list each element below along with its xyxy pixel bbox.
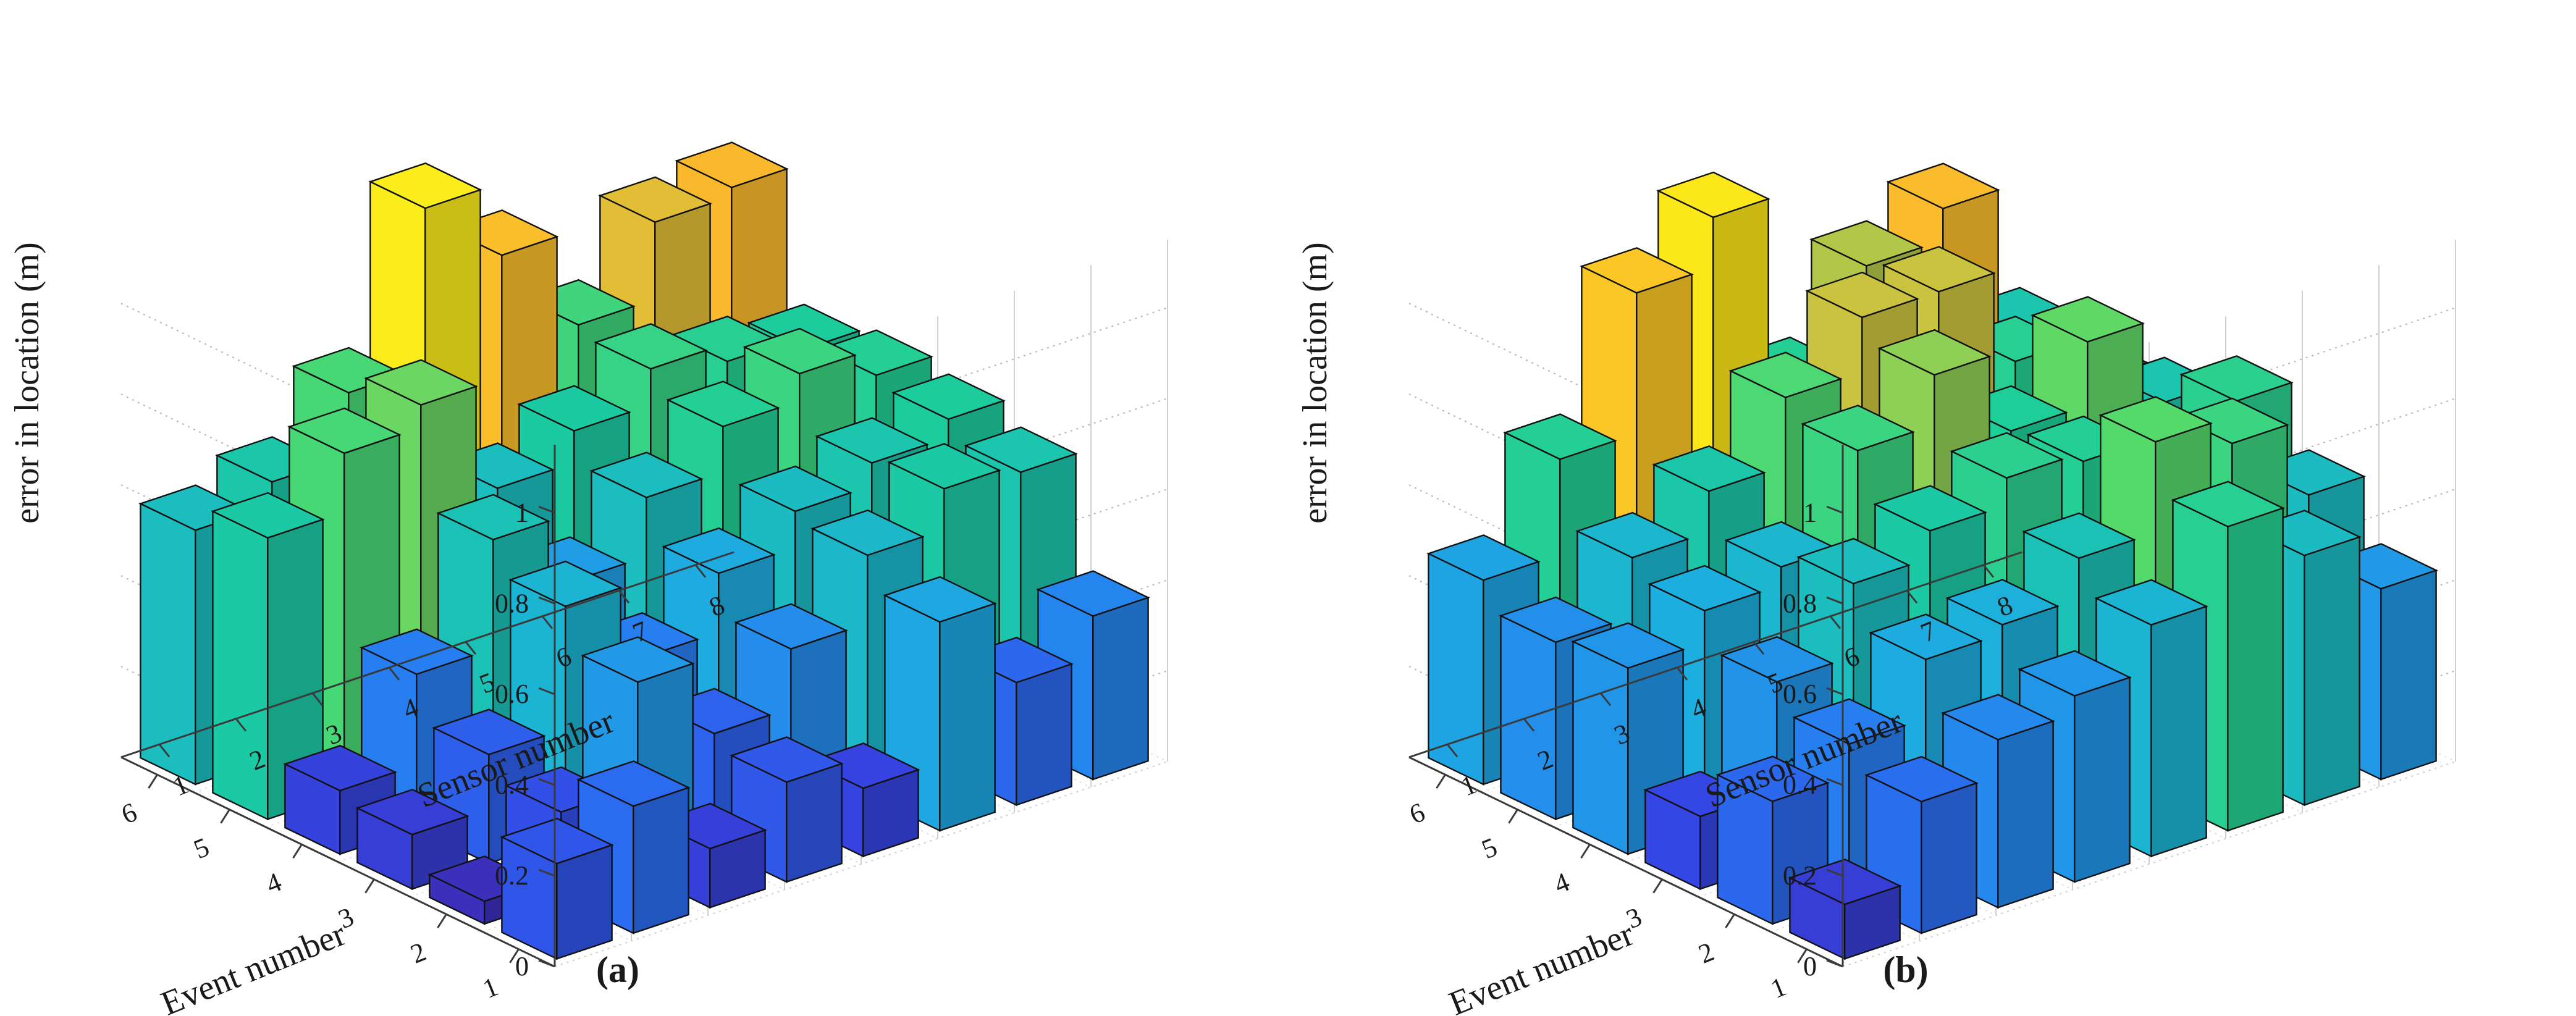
bar-face-side — [1921, 783, 1976, 933]
panel-caption: (b) — [1883, 949, 1928, 990]
x-tick-mark — [366, 880, 374, 893]
z-tick-mark — [539, 960, 555, 967]
z-axis-title: error in location (m) — [1296, 242, 1334, 524]
x-tick-label: 4 — [262, 867, 286, 900]
bar-face-side — [2381, 570, 2436, 779]
bar-face-side — [786, 763, 841, 882]
x-tick-mark — [1726, 914, 1735, 928]
z-tick-label: 0.2 — [495, 860, 529, 891]
z-tick-mark — [1827, 960, 1843, 967]
panel-b: 00.20.40.60.8165432112345678error in loc… — [1288, 0, 2576, 1016]
bar-face-side — [2304, 537, 2359, 805]
x-tick-mark — [1509, 810, 1518, 823]
x-tick-label: 5 — [1478, 831, 1502, 865]
bar-face-side — [1998, 721, 2053, 908]
x-tick-label: 2 — [406, 936, 431, 970]
x-tick-label: 5 — [190, 831, 214, 865]
bar-face-side — [633, 787, 688, 933]
bar-face-side — [1093, 598, 1148, 779]
x-tick-mark — [149, 775, 158, 788]
z-tick-label: 0.8 — [495, 588, 529, 618]
bar-face-side — [557, 845, 612, 959]
z-axis-title: error in location (m) — [8, 242, 46, 524]
chart-svg-b: 00.20.40.60.8165432112345678error in loc… — [1288, 0, 2576, 1016]
bars-layer — [140, 143, 1148, 959]
x-tick-label: 2 — [1694, 936, 1719, 970]
x-tick-label: 6 — [1405, 797, 1429, 830]
z-tick-label: 1 — [515, 497, 529, 527]
z-tick-label: 0 — [1803, 951, 1817, 981]
z-tick-label: 0.6 — [495, 679, 529, 709]
z-tick-label: 0.2 — [1783, 860, 1817, 891]
bar-face-side — [940, 603, 995, 831]
x-tick-label: 6 — [117, 797, 141, 830]
bar-face-side — [2228, 508, 2283, 831]
x-tick-mark — [1654, 880, 1662, 893]
bar-face-side — [2151, 607, 2206, 857]
panel-a: 00.20.40.60.8165432112345678error in loc… — [0, 0, 1288, 1016]
x-tick-label: 1 — [1767, 971, 1791, 1004]
z-tick-label: 0 — [515, 951, 529, 981]
x-axis-title: Event number — [156, 915, 351, 1016]
x-tick-label: 4 — [1550, 867, 1574, 900]
x-tick-mark — [221, 810, 230, 823]
x-tick-mark — [438, 914, 447, 928]
bar-face-front — [1428, 553, 1483, 784]
x-tick-mark — [1581, 844, 1590, 858]
x-tick-label: 1 — [479, 971, 503, 1004]
x-axis-title: Event number — [1444, 915, 1639, 1016]
z-tick-label: 1 — [1803, 497, 1817, 527]
z-tick-label: 0.8 — [1783, 588, 1817, 618]
chart-svg-a: 00.20.40.60.8165432112345678error in loc… — [0, 0, 1288, 1016]
x-tick-mark — [1437, 775, 1446, 788]
bar-face-side — [2074, 678, 2129, 882]
z-tick-label: 0.6 — [1783, 679, 1817, 709]
figure-root: 00.20.40.60.8165432112345678error in loc… — [0, 0, 2576, 1016]
bar-face-side — [1016, 664, 1071, 805]
x-tick-mark — [293, 844, 302, 858]
panel-caption: (a) — [596, 949, 639, 990]
